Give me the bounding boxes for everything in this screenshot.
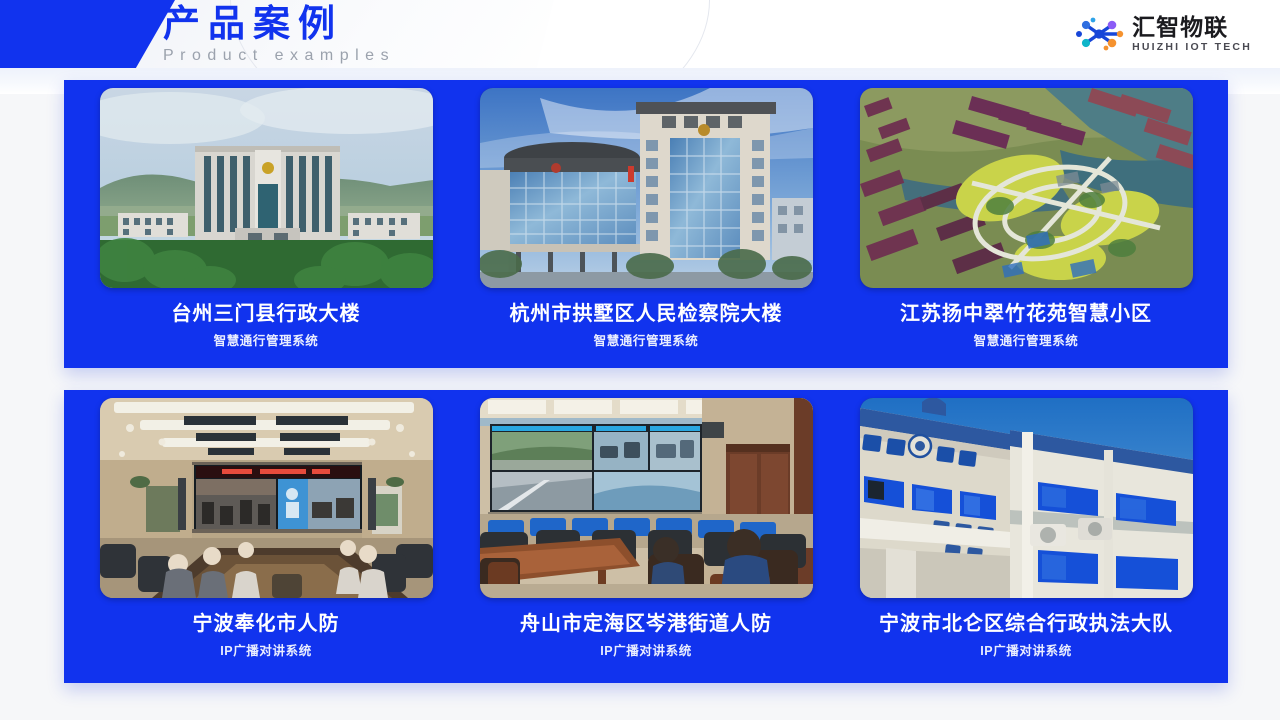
case-subtitle: IP广播对讲系统 [600, 643, 692, 659]
case-subtitle: 智慧通行管理系统 [214, 333, 319, 349]
page-title-en: Product examples [163, 46, 395, 66]
case-thumbnail[interactable] [100, 88, 433, 288]
case-card[interactable]: 舟山市定海区岑港街道人防 IP广播对讲系统 [456, 398, 836, 683]
case-thumbnail[interactable] [860, 88, 1193, 288]
case-thumbnail[interactable] [480, 88, 813, 288]
case-title: 宁波市北仑区综合行政执法大队 [879, 611, 1173, 637]
case-subtitle: IP广播对讲系统 [220, 643, 312, 659]
case-card[interactable]: 江苏扬中翠竹花苑智慧小区 智慧通行管理系统 [836, 88, 1216, 368]
case-card-list-2: 宁波奉化市人防 IP广播对讲系统 [64, 390, 1228, 683]
case-subtitle: 智慧通行管理系统 [974, 333, 1079, 349]
slide-root: 产品案例 Product examples [0, 0, 1280, 720]
case-card[interactable]: 杭州市拱墅区人民检察院大楼 智慧通行管理系统 [456, 88, 836, 368]
page-title-cn: 产品案例 [163, 2, 395, 46]
case-thumbnail[interactable] [100, 398, 433, 598]
case-title: 杭州市拱墅区人民检察院大楼 [510, 301, 783, 327]
case-title: 宁波奉化市人防 [193, 611, 340, 637]
case-subtitle: IP广播对讲系统 [980, 643, 1072, 659]
page-title: 产品案例 Product examples [163, 2, 395, 66]
brand-logo-text: 汇智物联 HUIZHI IOT TECH [1132, 15, 1252, 54]
case-title: 台州三门县行政大楼 [172, 301, 361, 327]
brand-name-en: HUIZHI IOT TECH [1132, 40, 1252, 54]
case-card[interactable]: 宁波奉化市人防 IP广播对讲系统 [76, 398, 456, 683]
case-card[interactable]: 宁波市北仑区综合行政执法大队 IP广播对讲系统 [836, 398, 1216, 683]
case-title: 舟山市定海区岑港街道人防 [520, 611, 772, 637]
case-thumbnail[interactable] [860, 398, 1193, 598]
molecule-network-icon [1073, 14, 1125, 54]
case-card-list-1: 台州三门县行政大楼 智慧通行管理系统 [64, 80, 1228, 368]
brand-name-cn: 汇智物联 [1132, 15, 1252, 40]
case-card[interactable]: 台州三门县行政大楼 智慧通行管理系统 [76, 88, 456, 368]
case-title: 江苏扬中翠竹花苑智慧小区 [900, 301, 1152, 327]
case-panel-row-1: 台州三门县行政大楼 智慧通行管理系统 [64, 80, 1228, 368]
brand-logo: 汇智物联 HUIZHI IOT TECH [1073, 14, 1252, 54]
case-panel-row-2: 宁波奉化市人防 IP广播对讲系统 [64, 390, 1228, 683]
header-blue-wedge [0, 0, 175, 70]
case-thumbnail[interactable] [480, 398, 813, 598]
case-subtitle: 智慧通行管理系统 [594, 333, 699, 349]
slide-header: 产品案例 Product examples [0, 0, 1280, 70]
